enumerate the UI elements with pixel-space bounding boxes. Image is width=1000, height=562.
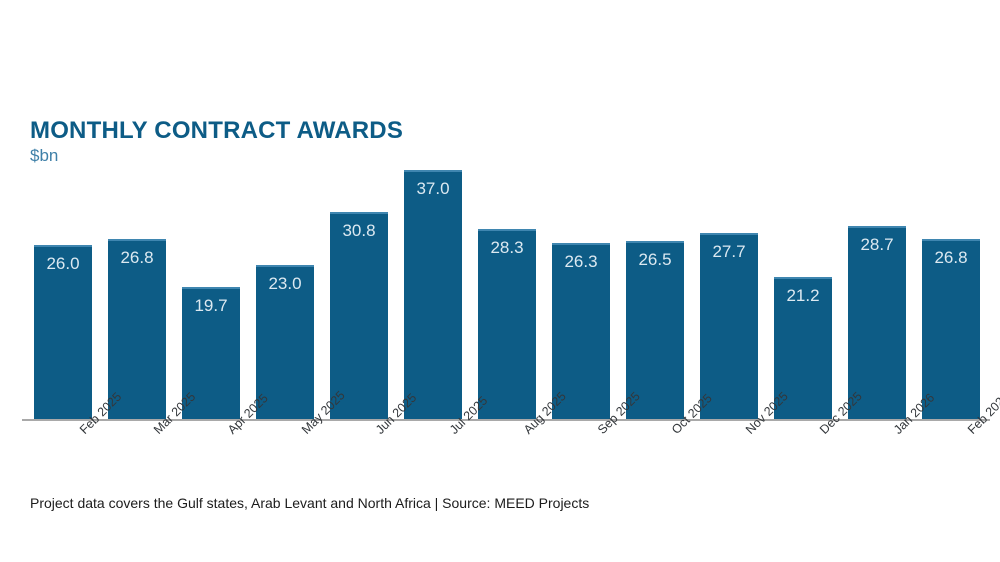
tick-label-apr-2025: Apr 2025 [225,427,235,437]
bar-feb-2025: 26.0 [34,245,92,421]
tick-label-jan-2026: Jan 2026 [891,427,901,437]
bar-rect: 28.3 [478,229,536,421]
bar-value-label: 27.7 [700,243,758,260]
bar-jul-2025: 37.0 [404,170,462,421]
chart-container: MONTHLY CONTRACT AWARDS $bn 26.026.819.7… [0,0,1000,562]
bar-value-label: 30.8 [330,222,388,239]
bar-value-label: 26.0 [34,255,92,272]
bar-value-label: 23.0 [256,275,314,292]
tick-label-jun-2025: Jun 2025 [373,427,383,437]
tick-label-dec-2025: Dec 2025 [817,427,827,437]
bar-aug-2025: 28.3 [478,229,536,421]
bar-value-label: 28.3 [478,239,536,256]
tick-label-nov-2025: Nov 2025 [743,427,753,437]
bar-value-label: 26.8 [922,249,980,266]
tick-label-may-2025: May 2025 [299,427,309,437]
bar-rect: 27.7 [700,233,758,421]
bar-value-label: 37.0 [404,180,462,197]
plot-area: 26.026.819.723.030.837.028.326.326.527.7… [0,0,1000,421]
tick-label-jul-2025: Jul 2025 [447,427,457,437]
bar-value-label: 28.7 [848,236,906,253]
bar-value-label: 26.3 [552,253,610,270]
bar-value-label: 19.7 [182,297,240,314]
chart-footnote: Project data covers the Gulf states, Ara… [30,495,589,511]
tick-label-feb-2026: Feb 2026 [965,427,975,437]
tick-label-aug-2025: Aug 2025 [521,427,531,437]
bar-series: 26.026.819.723.030.837.028.326.326.527.7… [0,0,1000,421]
x-axis-tick-labels: Feb 2025Mar 2025Apr 2025May 2025Jun 2025… [0,421,1000,491]
bar-nov-2025: 27.7 [700,233,758,421]
tick-label-sep-2025: Sep 2025 [595,427,605,437]
tick-label-mar-2025: Mar 2025 [151,427,161,437]
bar-rect: 26.0 [34,245,92,421]
bar-value-label: 26.5 [626,251,684,268]
tick-label-oct-2025: Oct 2025 [669,427,679,437]
tick-label-feb-2025: Feb 2025 [77,427,87,437]
bar-value-label: 21.2 [774,287,832,304]
bar-rect: 37.0 [404,170,462,421]
bar-value-label: 26.8 [108,249,166,266]
